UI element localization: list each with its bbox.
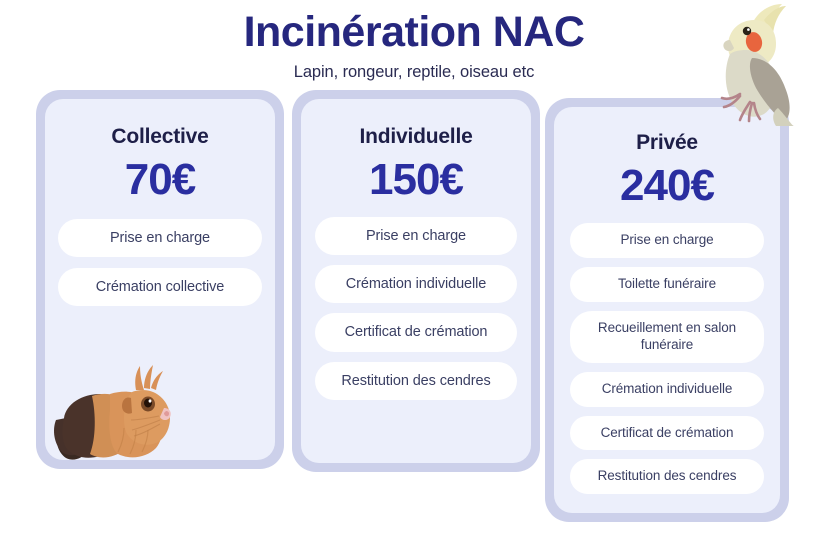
page-header: Incinération NAC Lapin, rongeur, reptile… — [0, 8, 828, 82]
feature-pill: Crémation individuelle — [570, 372, 764, 407]
pricing-card-privee[interactable]: Privée 240€ Prise en charge Toilette fun… — [545, 98, 789, 522]
feature-pill: Recueillement en salon funéraire — [570, 311, 764, 363]
pricing-card-individuelle[interactable]: Individuelle 150€ Prise en charge Crémat… — [292, 90, 540, 472]
feature-pill: Restitution des cendres — [570, 459, 764, 494]
feature-pill: Prise en charge — [58, 219, 262, 257]
card-title-privee: Privée — [554, 131, 780, 155]
feature-pill: Prise en charge — [315, 217, 517, 255]
card-price-individuelle: 150€ — [301, 157, 531, 203]
card-price-privee: 240€ — [554, 163, 780, 209]
feature-pill: Prise en charge — [570, 223, 764, 258]
feature-pill: Toilette funéraire — [570, 267, 764, 302]
card-title-individuelle: Individuelle — [301, 125, 531, 149]
card-inner-collective: Collective 70€ Prise en charge Crémation… — [45, 99, 275, 460]
feature-pill: Crémation collective — [58, 268, 262, 306]
feature-pill: Certificat de crémation — [315, 313, 517, 351]
feature-list-privee: Prise en charge Toilette funéraire Recue… — [554, 223, 780, 494]
card-inner-privee: Privée 240€ Prise en charge Toilette fun… — [554, 107, 780, 513]
feature-list-individuelle: Prise en charge Crémation individuelle C… — [301, 217, 531, 400]
feature-pill: Restitution des cendres — [315, 362, 517, 400]
card-title-collective: Collective — [45, 125, 275, 149]
feature-pill: Crémation individuelle — [315, 265, 517, 303]
card-inner-individuelle: Individuelle 150€ Prise en charge Crémat… — [301, 99, 531, 463]
pricing-card-collective[interactable]: Collective 70€ Prise en charge Crémation… — [36, 90, 284, 469]
card-price-collective: 70€ — [45, 157, 275, 203]
page-subtitle: Lapin, rongeur, reptile, oiseau etc — [0, 63, 828, 82]
feature-list-collective: Prise en charge Crémation collective — [45, 219, 275, 306]
feature-pill: Certificat de crémation — [570, 416, 764, 451]
page-title: Incinération NAC — [0, 8, 828, 57]
